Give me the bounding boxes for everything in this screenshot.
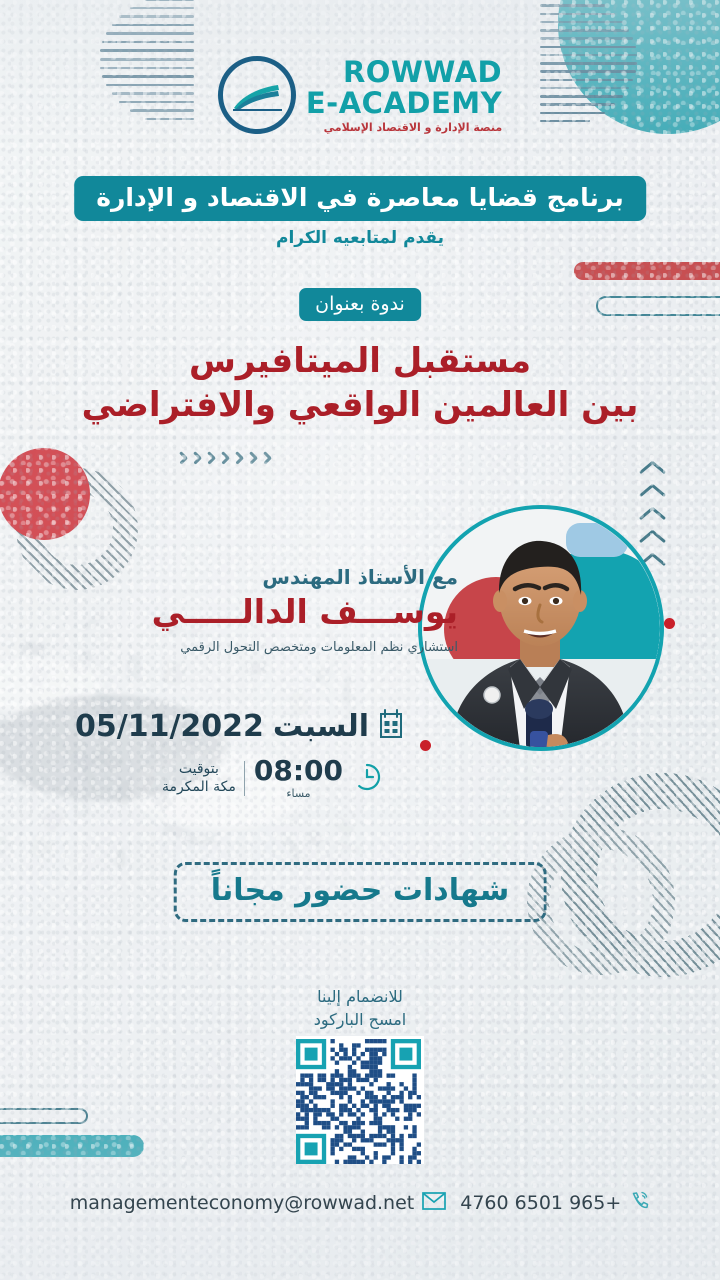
event-time-value: 08:00 — [254, 757, 343, 785]
event-date: السبت 05/11/2022 — [75, 708, 404, 744]
timezone-line2: مكة المكرمة — [162, 779, 236, 797]
teal-outline-bar-decoration — [596, 296, 720, 316]
phone-number: +965 6501 4760 — [460, 1192, 621, 1214]
email-address: managementeconomy@rowwad.net — [70, 1192, 414, 1214]
event-date-value: 05/11/2022 — [75, 709, 264, 744]
chevron-right-icon — [220, 448, 233, 468]
brand-name-line2: E-ACADEMY — [306, 89, 502, 118]
program-banner: برنامج قضايا معاصرة في الاقتصاد و الإدار… — [74, 176, 646, 221]
chevron-right-icon — [178, 448, 191, 468]
chevron-right-icon — [206, 448, 219, 468]
timezone-line1: بتوقيت — [162, 761, 236, 779]
speaker-name: يوســـف الدالـــــي — [152, 592, 458, 631]
brand-logo: ROWWAD E-ACADEMY منصة الإدارة و الاقتصاد… — [0, 56, 720, 134]
qr-instruction-line2: امسح الباركود — [0, 1008, 720, 1031]
red-circle-decoration — [0, 448, 90, 540]
brand-logo-text: ROWWAD E-ACADEMY منصة الإدارة و الاقتصاد… — [306, 58, 502, 133]
qr-instruction-line1: للانضمام إلينا — [0, 985, 720, 1008]
red-dot-decoration — [664, 618, 675, 629]
chevron-up-icon — [638, 458, 668, 478]
chevron-up-icon — [638, 481, 668, 501]
event-time-block: 08:00 مساء — [254, 757, 343, 800]
speaker-role: استشاري نظم المعلومات ومتخصص التحول الرق… — [180, 640, 458, 655]
chevron-up-icon — [638, 527, 668, 547]
teal-outline-bar-bottom-left — [0, 1108, 88, 1124]
brand-tagline: منصة الإدارة و الاقتصاد الإسلامي — [306, 122, 502, 133]
certificate-badge: شهادات حضور مجاناً — [174, 862, 547, 922]
open-book-in-circle-logo-icon — [218, 56, 296, 134]
phone-icon — [629, 1190, 650, 1216]
seminar-title-line2: بين العالمين الواقعي والافتراضي — [0, 384, 720, 428]
event-day: السبت — [273, 709, 369, 744]
qr-code[interactable] — [296, 1036, 424, 1164]
teal-filled-bar-bottom-left — [0, 1135, 144, 1157]
brand-name-line1: ROWWAD — [306, 58, 502, 87]
chevron-up-icons — [638, 458, 668, 573]
chevron-up-icon — [638, 504, 668, 524]
envelope-icon — [422, 1192, 446, 1215]
red-dot-decoration — [420, 740, 431, 751]
contact-footer: +965 6501 4760 managementeconomy@rowwad.… — [0, 1190, 720, 1216]
chevron-right-icons — [178, 448, 275, 468]
hatched-arc-decoration-inner — [526, 826, 676, 976]
red-bar-decoration — [574, 262, 720, 280]
contact-phone[interactable]: +965 6501 4760 — [460, 1190, 650, 1216]
seminar-title: مستقبل الميتافيرس بين العالمين الواقعي و… — [0, 340, 720, 427]
event-timezone: بتوقيت مكة المكرمة — [162, 761, 245, 796]
speaker-prefix: مع الأستاذ المهندس — [262, 565, 458, 589]
event-poster: ROWWAD E-ACADEMY منصة الإدارة و الاقتصاد… — [0, 0, 720, 1280]
chevron-right-icon — [248, 448, 261, 468]
event-time-meridiem: مساء — [254, 787, 343, 800]
seminar-badge: ندوة بعنوان — [299, 288, 421, 321]
clock-icon — [352, 762, 382, 796]
event-time: 08:00 مساء بتوقيت مكة المكرمة — [162, 757, 382, 800]
chevron-right-icon — [262, 448, 275, 468]
program-subtitle: يقدم لمتابعيه الكرام — [276, 228, 444, 248]
contact-email[interactable]: managementeconomy@rowwad.net — [70, 1192, 446, 1215]
chevron-right-icon — [234, 448, 247, 468]
chevron-right-icon — [192, 448, 205, 468]
qr-instructions: للانضمام إلينا امسح الباركود — [0, 985, 720, 1031]
seminar-title-line1: مستقبل الميتافيرس — [0, 340, 720, 384]
calendar-icon — [378, 708, 404, 744]
